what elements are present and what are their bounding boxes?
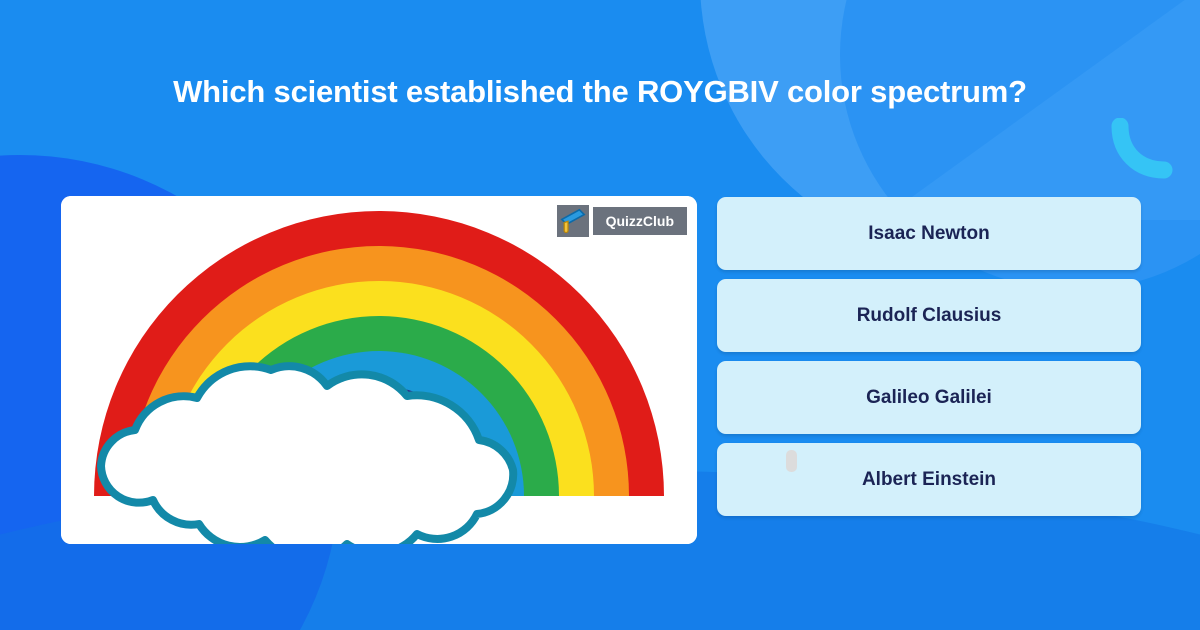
scrollbar-thumb[interactable]	[786, 450, 797, 472]
answer-option-1-label: Isaac Newton	[868, 223, 989, 245]
answer-option-3-label: Galileo Galilei	[866, 387, 992, 409]
answer-option-2[interactable]: Rudolf Clausius	[717, 279, 1141, 352]
watermark-brand-label: QuizzClub	[593, 207, 687, 235]
answer-options-list: Isaac Newton Rudolf Clausius Galileo Gal…	[717, 197, 1141, 516]
question-title: Which scientist established the ROYGBIV …	[0, 74, 1200, 110]
quizzclub-watermark: QuizzClub	[557, 205, 687, 237]
answer-option-4-label: Albert Einstein	[862, 469, 996, 491]
answer-option-3[interactable]: Galileo Galilei	[717, 361, 1141, 434]
answer-option-1[interactable]: Isaac Newton	[717, 197, 1141, 270]
graduation-cap-icon	[557, 205, 589, 237]
question-image-card: QuizzClub	[61, 196, 697, 544]
answer-option-4[interactable]: Albert Einstein	[717, 443, 1141, 516]
answer-option-2-label: Rudolf Clausius	[857, 305, 1002, 327]
swoosh-arc-icon	[1108, 118, 1178, 188]
rainbow-illustration	[61, 196, 697, 544]
